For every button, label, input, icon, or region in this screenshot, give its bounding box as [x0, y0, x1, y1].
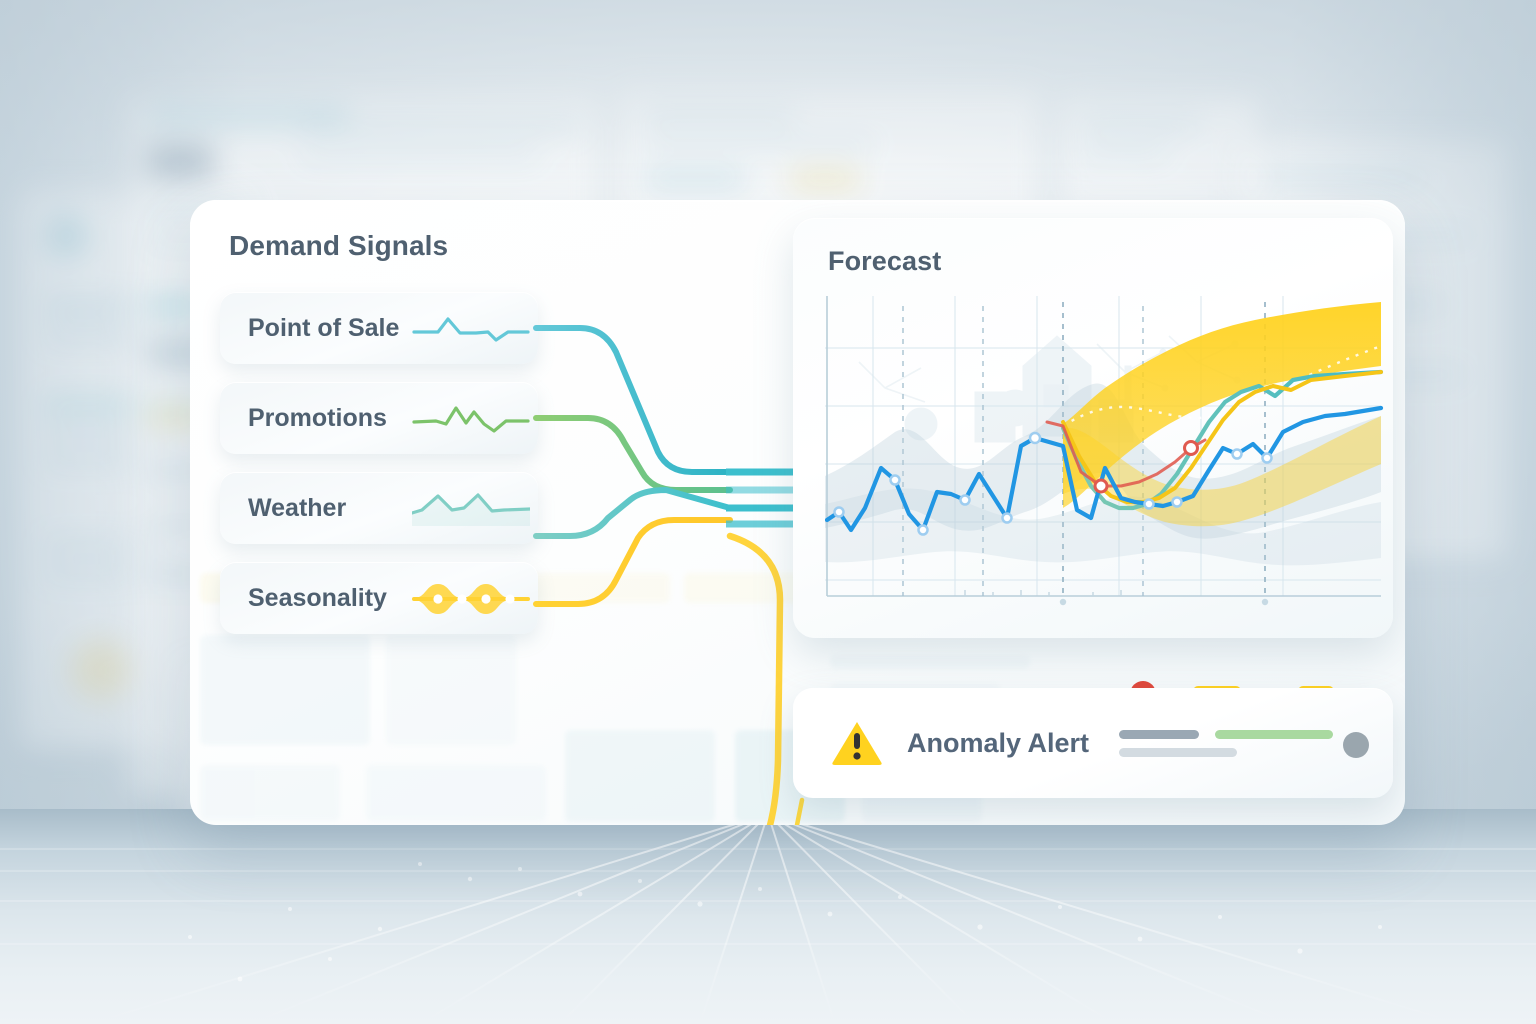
warning-triangle-icon	[831, 719, 883, 767]
sparkline-icon	[412, 396, 530, 440]
placeholder-bar	[1119, 730, 1199, 739]
signal-card-point-of-sale[interactable]: Point of Sale	[220, 292, 538, 364]
wave-sparkline-icon	[412, 576, 530, 620]
placeholder-avatar-dot	[1343, 732, 1369, 758]
signal-label: Seasonality	[248, 584, 387, 613]
signal-label: Point of Sale	[248, 314, 399, 343]
sparkline-icon	[412, 306, 530, 350]
background-light-floor	[0, 809, 1536, 1024]
placeholder-bar	[1119, 748, 1237, 757]
forecast-card: Forecast	[793, 218, 1393, 638]
screenshot-root: Demand Signals Point of Sale Promotions …	[0, 0, 1536, 1024]
anomaly-alert-label: Anomaly Alert	[907, 728, 1089, 759]
signal-label: Promotions	[248, 404, 387, 433]
signal-card-seasonality[interactable]: Seasonality	[220, 562, 538, 634]
anomaly-alert-card[interactable]: Anomaly Alert	[793, 688, 1393, 798]
placeholder-bar	[1215, 730, 1333, 739]
signal-card-weather[interactable]: Weather	[220, 472, 538, 544]
sparkline-icon	[412, 486, 530, 530]
signal-card-promotions[interactable]: Promotions	[220, 382, 538, 454]
chart-axis-dots	[1060, 599, 1268, 605]
signal-label: Weather	[248, 494, 346, 523]
alert-detail-placeholders	[1119, 720, 1369, 766]
demand-signals-title: Demand Signals	[229, 230, 448, 262]
main-panel: Demand Signals Point of Sale Promotions …	[190, 200, 1405, 825]
forecast-chart[interactable]	[825, 296, 1385, 616]
chart-x-ticks	[965, 590, 1121, 596]
forecast-title: Forecast	[828, 246, 941, 277]
